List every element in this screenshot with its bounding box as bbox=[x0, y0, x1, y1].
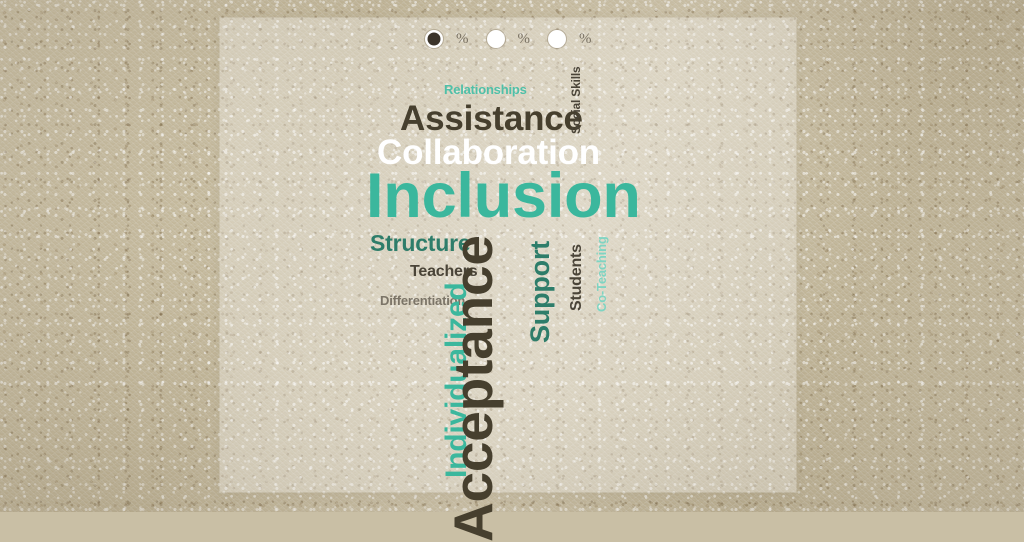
radio-circle-icon-3[interactable] bbox=[548, 30, 566, 48]
radio-circle-icon-1[interactable] bbox=[425, 30, 443, 48]
word-cloud-term-assistance: Assistance bbox=[400, 101, 583, 136]
word-cloud: RelationshipsAssistanceCollaborationIncl… bbox=[0, 0, 1024, 512]
word-cloud-term-students: Students bbox=[569, 244, 585, 311]
word-cloud-term-relationships: Relationships bbox=[444, 83, 527, 96]
word-cloud-term-social-skills: Social Skills bbox=[570, 67, 582, 134]
percent-option-3[interactable]: % bbox=[548, 30, 610, 48]
word-cloud-term-support: Support bbox=[527, 241, 554, 343]
word-cloud-term-inclusion: Inclusion bbox=[366, 165, 641, 228]
percent-label-2: % bbox=[518, 31, 531, 48]
word-cloud-term-acceptance: Acceptance bbox=[446, 235, 501, 542]
radio-circle-icon-2[interactable] bbox=[487, 30, 505, 48]
percent-label-3: % bbox=[579, 31, 592, 48]
word-cloud-term-co-teaching: Co-Teaching bbox=[595, 236, 608, 312]
percent-option-2[interactable]: % bbox=[487, 30, 549, 48]
percent-option-1[interactable]: % bbox=[425, 30, 487, 48]
percent-radio-group[interactable]: %%% bbox=[425, 30, 610, 48]
percent-label-1: % bbox=[456, 31, 469, 48]
